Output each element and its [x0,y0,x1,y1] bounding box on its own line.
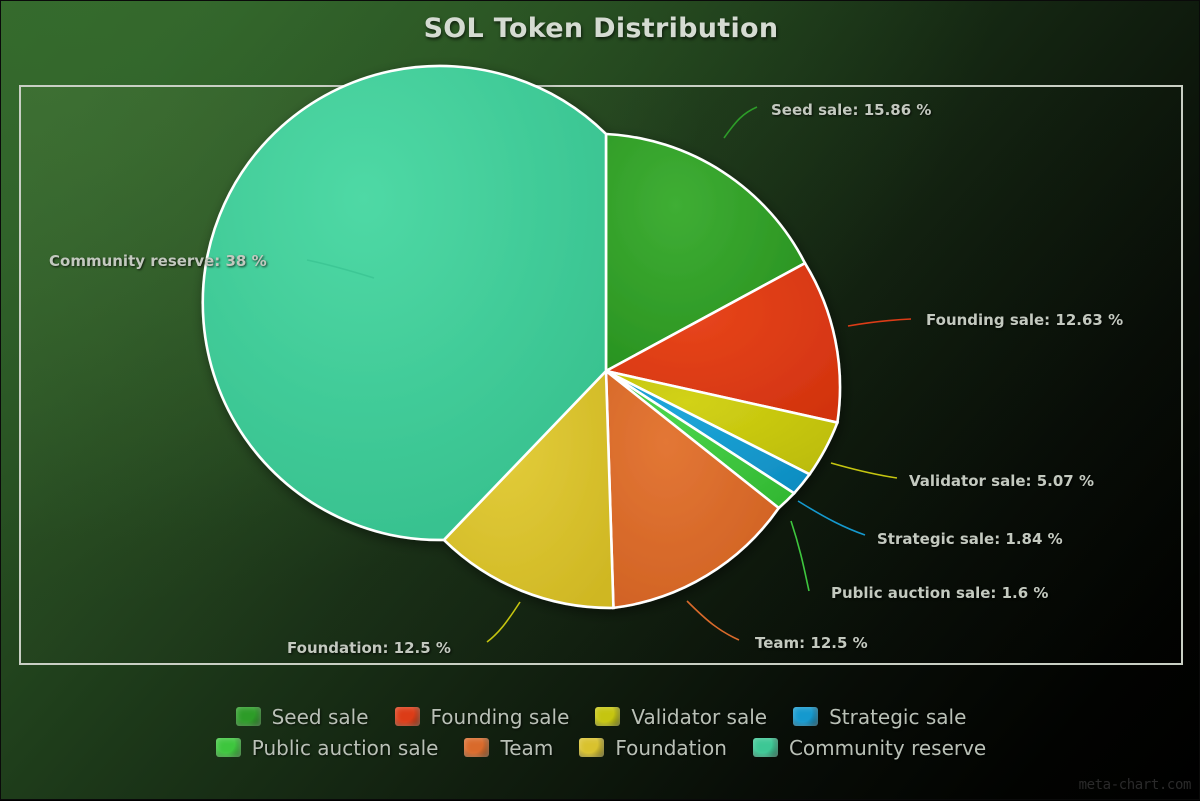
legend-row: Public auction sale Team Foundation Comm… [1,732,1200,763]
legend-item-community-reserve[interactable]: Community reserve [753,736,986,760]
legend-swatch-icon [579,738,604,757]
legend-label: Foundation [615,736,727,760]
callout-validator-sale: Validator sale: 5.07 % [909,472,1094,490]
legend-row: Seed sale Founding sale Validator sale S… [1,701,1200,732]
legend-swatch-icon [595,707,620,726]
callout-team: Team: 12.5 % [755,634,868,652]
plot-area [19,85,1183,665]
legend-swatch-icon [793,707,818,726]
callout-strategic-sale: Strategic sale: 1.84 % [877,530,1063,548]
chart-canvas: SOL Token Distribution [0,0,1200,800]
legend-item-foundation[interactable]: Foundation [579,736,727,760]
legend-label: Strategic sale [829,705,966,729]
legend-item-public-auction-sale[interactable]: Public auction sale [216,736,439,760]
page-title: SOL Token Distribution [1,13,1200,44]
legend-label: Public auction sale [252,736,439,760]
legend-label: Founding sale [431,705,570,729]
legend-item-team[interactable]: Team [464,736,553,760]
legend-item-seed-sale[interactable]: Seed sale [236,705,369,729]
legend-swatch-icon [236,707,261,726]
callout-foundation: Foundation: 12.5 % [287,639,451,657]
legend-swatch-icon [395,707,420,726]
callout-public-auction-sale: Public auction sale: 1.6 % [831,584,1048,602]
callout-community-reserve: Community reserve: 38 % [49,252,267,270]
legend-item-founding-sale[interactable]: Founding sale [395,705,570,729]
legend-label: Team [500,736,553,760]
callout-founding-sale: Founding sale: 12.63 % [926,311,1123,329]
legend-item-validator-sale[interactable]: Validator sale [595,705,767,729]
callout-seed-sale: Seed sale: 15.86 % [771,101,931,119]
legend-label: Community reserve [789,736,986,760]
legend-swatch-icon [753,738,778,757]
legend-label: Validator sale [631,705,767,729]
legend-swatch-icon [216,738,241,757]
legend-item-strategic-sale[interactable]: Strategic sale [793,705,966,729]
legend: Seed sale Founding sale Validator sale S… [1,701,1200,763]
watermark: meta-chart.com [1079,777,1191,793]
legend-label: Seed sale [272,705,369,729]
legend-swatch-icon [464,738,489,757]
